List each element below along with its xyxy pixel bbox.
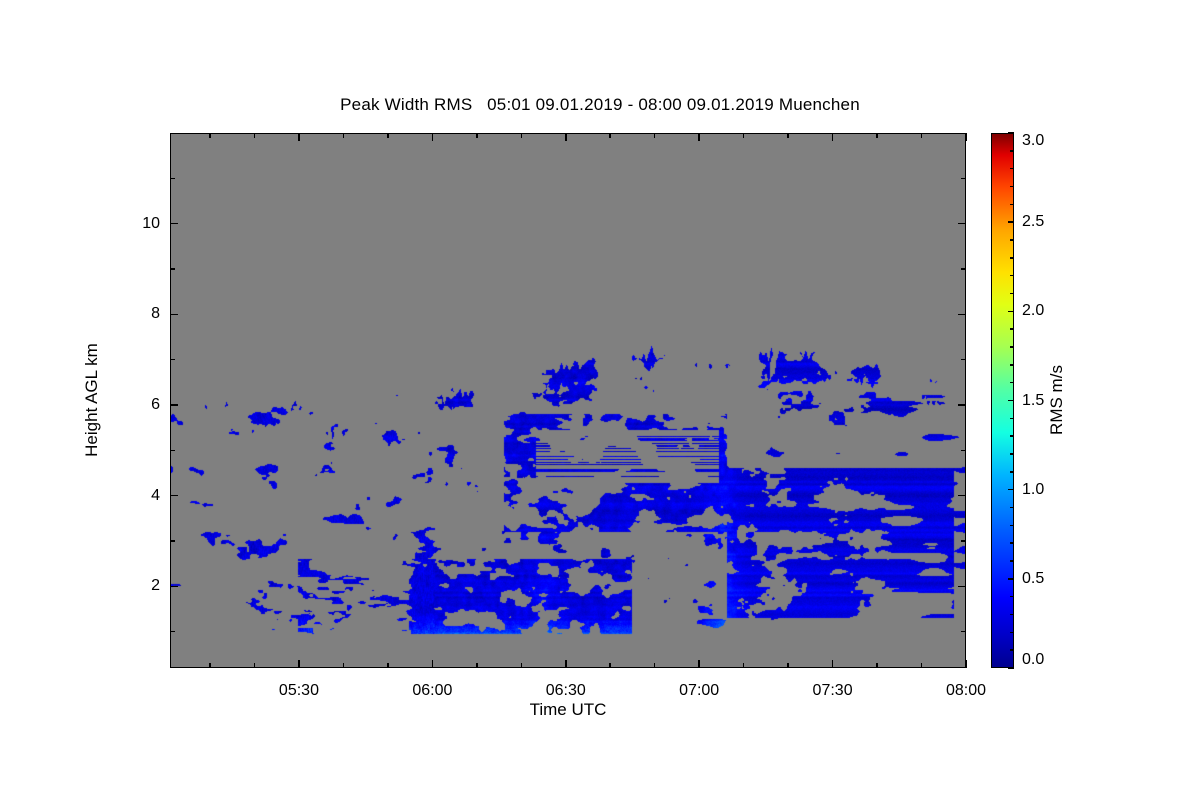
colorbar-tick-mark-minor [1010,204,1014,206]
colorbar-tick-mark [1008,400,1014,402]
colorbar-tick-mark [1008,311,1014,313]
colorbar-tick-mark [1008,667,1014,669]
x-tick-label: 07:00 [654,682,744,700]
x-tick-mark [832,660,834,668]
chart-title: Peak Width RMS 05:01 09.01.2019 - 08:00 … [0,95,1200,115]
colorbar-tick-mark [1008,221,1014,223]
y-tick-mark-right [961,359,966,361]
colorbar-tick-label: 0.0 [1022,651,1044,669]
colorbar-label: RMS m/s [1047,365,1067,435]
colorbar-tick-mark [1008,489,1014,491]
colorbar-tick-mark-minor [1010,257,1014,259]
x-tick-mark-top [921,133,923,138]
x-tick-label: 08:00 [921,682,1011,700]
colorbar-tick-mark [1008,578,1014,580]
y-tick-label: 4 [100,487,160,505]
y-tick-mark [170,495,178,497]
y-tick-label: 8 [100,305,160,323]
x-tick-mark [254,663,256,668]
heatmap-plot-area[interactable] [170,133,966,668]
x-tick-mark-top [787,133,789,138]
colorbar-tick-mark-minor [1010,525,1014,527]
colorbar-tick-mark-minor [1010,649,1014,651]
x-tick-mark-top [476,133,478,138]
x-tick-mark-top [565,133,567,141]
x-tick-mark [476,663,478,668]
x-tick-label: 06:30 [521,682,611,700]
colorbar-tick-mark-minor [1010,435,1014,437]
colorbar-tick-label: 1.0 [1022,481,1044,499]
x-tick-mark [387,663,389,668]
x-tick-mark [787,663,789,668]
x-tick-label: 05:30 [254,682,344,700]
colorbar-tick-mark-minor [1010,293,1014,295]
colorbar-tick-label: 2.0 [1022,302,1044,320]
y-tick-label: 6 [100,396,160,414]
x-tick-mark [521,663,523,668]
colorbar-tick-mark-minor [1010,453,1014,455]
x-tick-mark [965,660,967,668]
x-tick-mark [565,660,567,668]
colorbar-tick-mark-minor [1010,328,1014,330]
colorbar-tick-mark-minor [1010,471,1014,473]
colorbar-tick-mark-minor [1010,614,1014,616]
x-tick-mark [609,663,611,668]
colorbar-tick-mark-minor [1010,596,1014,598]
x-tick-mark-top [254,133,256,138]
colorbar-tick-label: 0.5 [1022,570,1044,588]
x-tick-mark-top [965,133,967,141]
x-tick-mark [698,660,700,668]
x-tick-mark-top [832,133,834,141]
x-tick-mark [432,660,434,668]
x-tick-mark [209,663,211,668]
x-tick-mark [743,663,745,668]
colorbar-tick-mark-minor [1010,150,1014,152]
y-tick-label: 2 [100,577,160,595]
y-tick-mark [170,540,175,542]
x-tick-label: 06:00 [387,682,477,700]
figure-root: Peak Width RMS 05:01 09.01.2019 - 08:00 … [0,0,1200,800]
x-tick-mark-top [876,133,878,138]
y-tick-mark [170,359,175,361]
colorbar-tick-mark-minor [1010,364,1014,366]
x-tick-mark-top [609,133,611,138]
colorbar-tick-mark-minor [1010,275,1014,277]
y-tick-mark-right [961,450,966,452]
colorbar-tick-mark-minor [1010,382,1014,384]
colorbar-tick-mark [1008,132,1014,134]
colorbar-tick-mark-minor [1010,346,1014,348]
colorbar-tick-label: 1.5 [1022,392,1044,410]
x-tick-mark-top [343,133,345,138]
y-tick-mark [170,631,175,633]
y-tick-label: 10 [100,215,160,233]
colorbar-tick-mark-minor [1010,542,1014,544]
colorbar-tick-mark-minor [1010,168,1014,170]
heatmap-canvas [170,133,966,668]
colorbar-tick-mark-minor [1010,507,1014,509]
colorbar-tick-mark-minor [1010,632,1014,634]
x-tick-mark-top [432,133,434,141]
y-tick-mark-right [958,404,966,406]
colorbar-tick-label: 2.5 [1022,213,1044,231]
x-tick-mark-top [387,133,389,138]
y-tick-mark [170,314,178,316]
y-tick-mark [170,450,175,452]
x-axis-label: Time UTC [530,700,607,720]
y-tick-mark-right [958,495,966,497]
x-tick-mark [298,660,300,668]
y-tick-mark-right [961,178,966,180]
colorbar-tick-mark-minor [1010,418,1014,420]
y-tick-mark-right [958,314,966,316]
x-tick-mark-top [521,133,523,138]
y-tick-mark [170,586,178,588]
y-tick-mark [170,178,175,180]
x-tick-mark [654,663,656,668]
y-tick-mark [170,404,178,406]
x-tick-mark [343,663,345,668]
y-tick-mark-right [961,540,966,542]
x-tick-mark-top [654,133,656,138]
y-tick-mark-right [961,268,966,270]
y-tick-mark [170,268,175,270]
x-tick-mark [876,663,878,668]
colorbar-tick-mark-minor [1010,560,1014,562]
x-tick-mark-top [743,133,745,138]
y-tick-mark-right [961,631,966,633]
x-tick-label: 07:30 [788,682,878,700]
x-tick-mark [921,663,923,668]
y-tick-mark [170,223,178,225]
x-tick-mark-top [209,133,211,138]
colorbar-tick-label: 3.0 [1022,132,1044,150]
colorbar-tick-mark-minor [1010,239,1014,241]
y-axis-label: Height AGL km [82,343,102,457]
y-tick-mark-right [958,586,966,588]
colorbar-tick-mark-minor [1010,186,1014,188]
x-tick-mark-top [698,133,700,141]
y-tick-mark-right [958,223,966,225]
x-tick-mark-top [298,133,300,141]
